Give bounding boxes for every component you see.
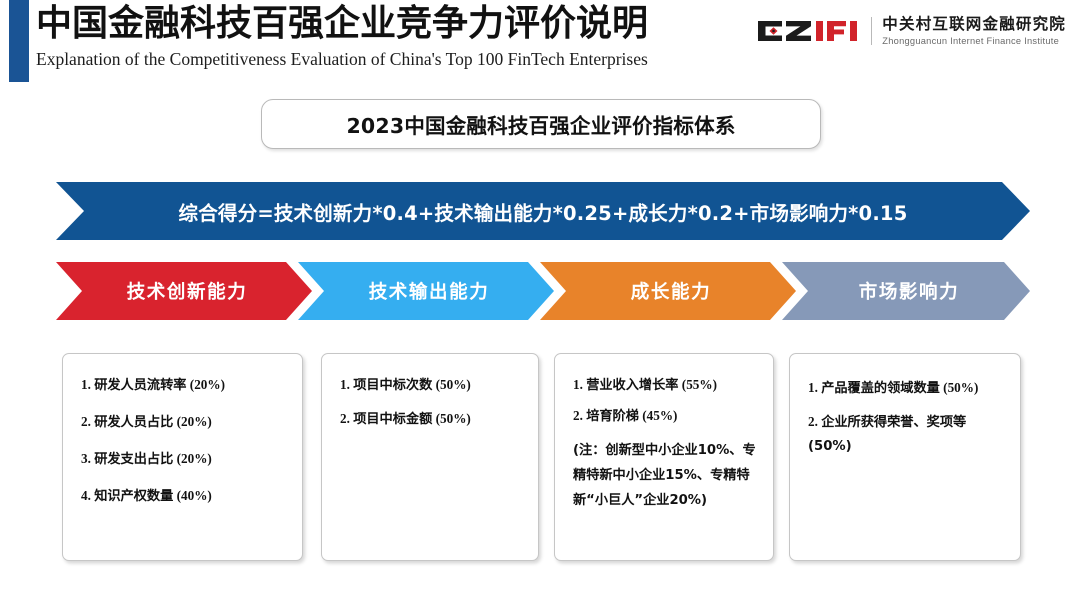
indicator-card-growth: 1. 营业收入增长率 (55%)2. 培育阶梯 (45%)(注：创新型中小企业1… [554,353,774,561]
indicator-cards: 1. 研发人员流转率 (20%)2. 研发人员占比 (20%)3. 研发支出占比… [0,0,1080,608]
indicator-item: 1. 研发人员流转率 (20%) [81,376,288,394]
indicator-index: 2. [340,411,353,426]
indicator-item: 3. 研发支出占比 (20%) [81,450,288,468]
indicator-name: 研发支出占比 [94,452,173,467]
indicator-weight: (20%) [173,451,211,466]
indicator-name: 企业所获得荣誉、奖项等 (50%) [808,415,966,454]
indicator-note: (注：创新型中小企业10%、专精特新中小企业15%、专精特新“小巨人”企业20%… [573,438,759,513]
indicator-name: 产品覆盖的领域数量 [821,381,940,396]
indicator-weight: (20%) [187,377,225,392]
indicator-weight: (45%) [639,408,677,423]
indicator-name: 培育阶梯 [586,409,639,424]
indicator-weight: (50%) [432,411,470,426]
indicator-item: 2. 培育阶梯 (45%) [573,407,759,425]
indicator-weight: (55%) [679,377,717,392]
indicator-item: 1. 项目中标次数 (50%) [340,376,524,394]
indicator-item: 1. 产品覆盖的领域数量 (50%) [808,376,1006,401]
indicator-item: 2. 研发人员占比 (20%) [81,413,288,431]
indicator-index: 3. [81,451,94,466]
indicator-name: 研发人员占比 [94,415,173,430]
indicator-index: 1. [573,377,586,392]
indicator-name: 项目中标次数 [353,378,432,393]
indicator-weight: (40%) [173,488,211,503]
indicator-item: 2. 项目中标金额 (50%) [340,410,524,428]
indicator-card-tech-output: 1. 项目中标次数 (50%)2. 项目中标金额 (50%) [321,353,539,561]
indicator-weight: (50%) [940,380,978,395]
indicator-index: 2. [573,408,586,423]
indicator-weight: (20%) [173,414,211,429]
indicator-index: 1. [808,380,821,395]
indicator-index: 1. [340,377,353,392]
indicator-index: 2. [81,414,94,429]
indicator-name: 知识产权数量 [94,489,173,504]
indicator-weight: (50%) [432,377,470,392]
indicator-item: 4. 知识产权数量 (40%) [81,487,288,505]
indicator-name: 营业收入增长率 [586,378,678,393]
indicator-index: 1. [81,377,94,392]
indicator-name: 研发人员流转率 [94,378,186,393]
indicator-card-market-influence: 1. 产品覆盖的领域数量 (50%)2. 企业所获得荣誉、奖项等 (50%) [789,353,1021,561]
indicator-item: 2. 企业所获得荣誉、奖项等 (50%) [808,410,1006,459]
indicator-item: 1. 营业收入增长率 (55%) [573,376,759,394]
indicator-card-tech-innovation: 1. 研发人员流转率 (20%)2. 研发人员占比 (20%)3. 研发支出占比… [62,353,303,561]
indicator-index: 2. [808,414,821,429]
indicator-name: 项目中标金额 [353,412,432,427]
indicator-index: 4. [81,488,94,503]
